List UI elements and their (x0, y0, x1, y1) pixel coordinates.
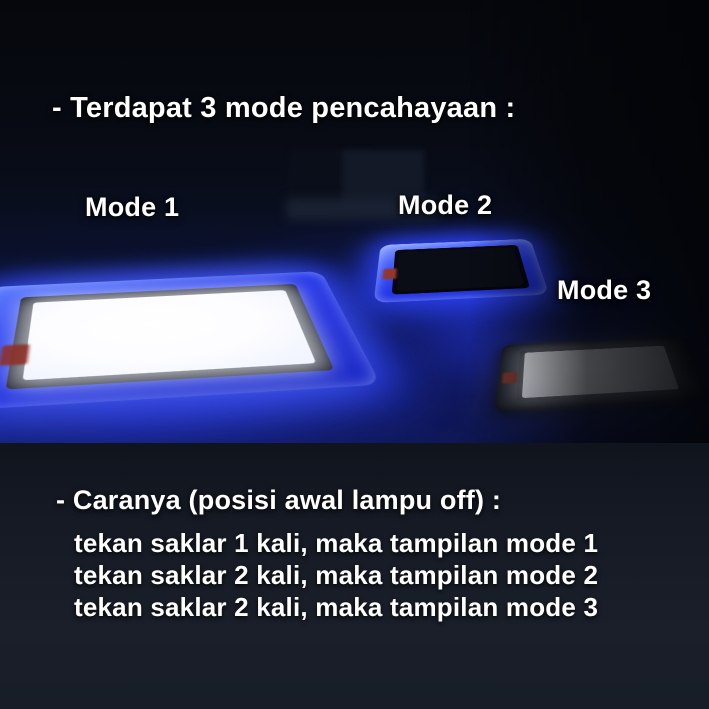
instruction-step-1: tekan saklar 1 kali, maka tampilan mode … (74, 528, 598, 559)
instructions-caption: - Caranya (posisi awal lampu off) : (56, 485, 501, 516)
led-panel-mode-1 (0, 271, 381, 410)
infographic-canvas: - Terdapat 3 mode pencahayaan : Mode 1 M… (0, 0, 709, 709)
instruction-step-3: tekan saklar 2 kali, maka tampilan mode … (74, 592, 598, 623)
mode-2-label: Mode 2 (398, 190, 492, 221)
mode-3-label: Mode 3 (557, 275, 651, 306)
page-title: - Terdapat 3 mode pencahayaan : (52, 92, 515, 125)
photo-vignette (470, 0, 709, 443)
mode-1-label: Mode 1 (85, 192, 179, 223)
instruction-step-2: tekan saklar 2 kali, maka tampilan mode … (74, 560, 598, 591)
product-photo-region: - Terdapat 3 mode pencahayaan : Mode 1 M… (0, 0, 709, 443)
mounting-clip-icon (383, 268, 397, 279)
